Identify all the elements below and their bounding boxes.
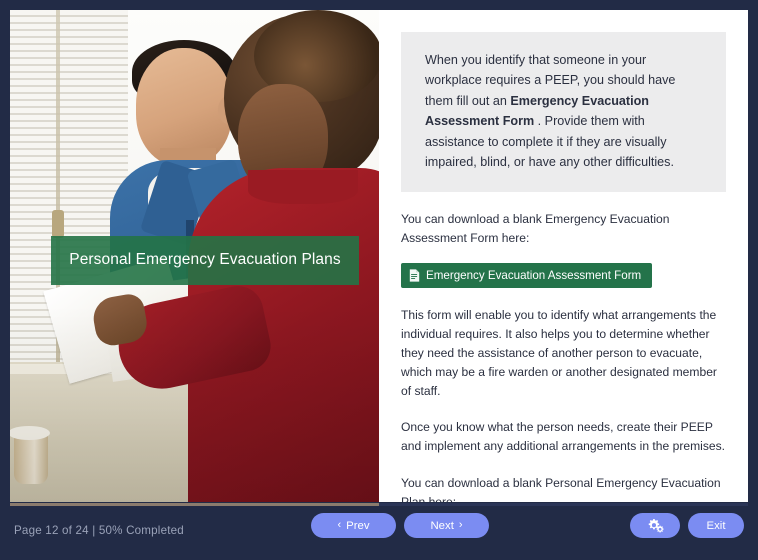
download-assessment-form-label: Emergency Evacuation Assessment Form (426, 270, 641, 282)
nav-right-controls: Exit (630, 513, 744, 538)
exit-button[interactable]: Exit (688, 513, 744, 538)
page-status-text: Page 12 of 24 | 50% Completed (14, 524, 184, 537)
chevron-right-icon: › (459, 520, 463, 531)
settings-button[interactable] (630, 513, 680, 538)
prev-button[interactable]: ‹ Prev (311, 513, 396, 538)
callout-box: When you identify that someone in your w… (401, 32, 726, 192)
download-assessment-form-button[interactable]: Emergency Evacuation Assessment Form (401, 263, 652, 288)
nav-center-controls: ‹ Prev Next › (311, 513, 489, 538)
gear-icon (647, 518, 664, 533)
slide-title: Personal Emergency Evacuation Plans (51, 236, 359, 285)
download-plan-intro-text: You can download a blank Personal Emerge… (401, 474, 726, 502)
next-button-label: Next (430, 520, 453, 532)
slide-content: When you identify that someone in your w… (379, 10, 748, 502)
document-icon (409, 269, 420, 282)
download-form-intro-text: You can download a blank Emergency Evacu… (401, 210, 726, 248)
next-button[interactable]: Next › (404, 513, 489, 538)
slide-stage: Personal Emergency Evacuation Plans When… (10, 10, 748, 502)
slide-photo: Personal Emergency Evacuation Plans (10, 10, 379, 502)
chevron-left-icon: ‹ (337, 520, 341, 531)
form-explainer-text: This form will enable you to identify wh… (401, 306, 726, 400)
prev-button-label: Prev (346, 520, 369, 532)
course-player-frame: Personal Emergency Evacuation Plans When… (0, 0, 758, 560)
exit-button-label: Exit (707, 520, 726, 532)
create-peep-text: Once you know what the person needs, cre… (401, 418, 726, 456)
